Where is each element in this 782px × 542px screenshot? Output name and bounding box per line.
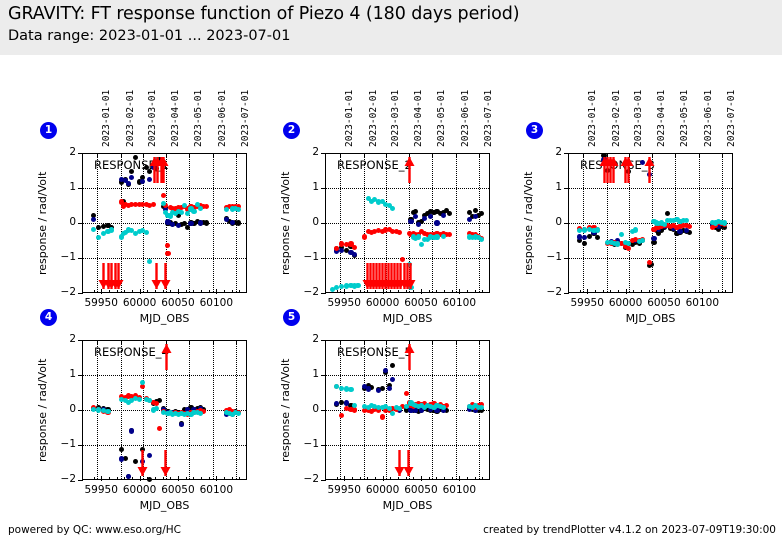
x-minor-tick bbox=[367, 290, 368, 293]
y-tick-label: −1 bbox=[293, 438, 319, 450]
data-point bbox=[441, 213, 446, 218]
date-tick-label: 2023-06-01 bbox=[460, 90, 471, 147]
y-tick-mark bbox=[321, 340, 326, 341]
data-point bbox=[165, 243, 170, 248]
overflow-arrow-down bbox=[113, 263, 124, 289]
x-minor-tick bbox=[178, 290, 179, 293]
gridline-h bbox=[83, 445, 246, 446]
gridline-h bbox=[569, 188, 732, 189]
overflow-arrow-up bbox=[644, 157, 655, 183]
x-minor-tick bbox=[239, 477, 240, 480]
y-tick-mark bbox=[564, 188, 569, 189]
data-point bbox=[154, 406, 159, 411]
x-axis-title: MJD_OBS bbox=[348, 312, 468, 325]
data-point bbox=[344, 400, 349, 405]
date-tick-mark bbox=[213, 153, 214, 157]
x-minor-tick bbox=[421, 290, 422, 293]
gridline-h bbox=[326, 223, 489, 224]
x-minor-tick bbox=[109, 290, 110, 293]
overflow-arrow-down bbox=[160, 263, 171, 289]
x-minor-tick bbox=[383, 290, 384, 293]
y-tick-label: 1 bbox=[293, 368, 319, 380]
data-point bbox=[479, 237, 484, 242]
x-minor-tick bbox=[398, 477, 399, 480]
data-point bbox=[188, 221, 193, 226]
y-tick-label: −2 bbox=[293, 473, 319, 485]
y-tick-label: −2 bbox=[50, 473, 76, 485]
date-tick-mark bbox=[340, 340, 341, 344]
x-minor-tick bbox=[421, 477, 422, 480]
x-minor-tick bbox=[413, 477, 414, 480]
date-tick-mark bbox=[121, 153, 122, 157]
x-minor-tick bbox=[337, 290, 338, 293]
data-point bbox=[230, 220, 235, 225]
y-axis-title: response / rad/Volt bbox=[522, 172, 535, 275]
data-point bbox=[198, 220, 203, 225]
y-tick-mark bbox=[321, 188, 326, 189]
x-minor-tick bbox=[186, 477, 187, 480]
overflow-arrow-up bbox=[158, 157, 169, 183]
x-minor-tick bbox=[444, 290, 445, 293]
data-point bbox=[387, 386, 392, 391]
data-point bbox=[647, 260, 652, 265]
x-minor-tick bbox=[360, 477, 361, 480]
y-tick-label: 1 bbox=[50, 368, 76, 380]
x-minor-tick bbox=[209, 290, 210, 293]
x-minor-tick bbox=[101, 477, 102, 480]
data-point bbox=[119, 447, 124, 452]
x-minor-tick bbox=[344, 290, 345, 293]
x-minor-tick bbox=[626, 290, 627, 293]
y-tick-mark bbox=[78, 445, 83, 446]
gridline-h bbox=[83, 188, 246, 189]
data-point bbox=[640, 238, 645, 243]
gridline-h bbox=[326, 445, 489, 446]
date-tick-label: 2023-05-01 bbox=[193, 90, 204, 147]
page-title: GRAVITY: FT response function of Piezo 4… bbox=[8, 4, 519, 24]
date-tick-label: 2023-07-01 bbox=[483, 90, 494, 147]
date-tick-mark bbox=[479, 340, 480, 344]
x-minor-tick bbox=[352, 290, 353, 293]
data-point bbox=[352, 245, 357, 250]
data-point bbox=[626, 241, 631, 246]
data-point bbox=[352, 407, 357, 412]
data-point bbox=[434, 234, 439, 239]
x-minor-tick bbox=[216, 290, 217, 293]
x-minor-tick bbox=[117, 477, 118, 480]
x-axis-title: MJD_OBS bbox=[105, 499, 225, 512]
overflow-arrow-down bbox=[403, 450, 414, 476]
data-point bbox=[119, 456, 124, 461]
x-minor-tick bbox=[178, 477, 179, 480]
x-tick-label: 60100 bbox=[192, 297, 240, 309]
x-minor-tick bbox=[459, 477, 460, 480]
x-minor-tick bbox=[618, 290, 619, 293]
x-tick-label: 60100 bbox=[192, 484, 240, 496]
x-minor-tick bbox=[232, 477, 233, 480]
date-tick-mark bbox=[143, 340, 144, 344]
data-point bbox=[348, 387, 353, 392]
overflow-arrow-up bbox=[161, 344, 172, 370]
x-minor-tick bbox=[170, 477, 171, 480]
y-tick-label: 2 bbox=[293, 146, 319, 158]
x-minor-tick bbox=[201, 477, 202, 480]
x-minor-tick bbox=[147, 290, 148, 293]
x-minor-tick bbox=[406, 290, 407, 293]
data-point bbox=[651, 236, 656, 241]
x-minor-tick bbox=[352, 477, 353, 480]
data-point bbox=[151, 202, 156, 207]
date-tick-mark bbox=[213, 340, 214, 344]
y-tick-label: −2 bbox=[50, 286, 76, 298]
x-minor-tick bbox=[467, 290, 468, 293]
x-minor-tick bbox=[718, 290, 719, 293]
overflow-arrow-up bbox=[608, 157, 619, 183]
y-tick-mark bbox=[78, 293, 83, 294]
x-minor-tick bbox=[429, 477, 430, 480]
x-minor-tick bbox=[163, 290, 164, 293]
x-minor-tick bbox=[475, 477, 476, 480]
x-minor-tick bbox=[702, 290, 703, 293]
x-minor-tick bbox=[375, 290, 376, 293]
x-minor-tick bbox=[367, 477, 368, 480]
x-minor-tick bbox=[475, 290, 476, 293]
y-tick-mark bbox=[321, 258, 326, 259]
y-tick-mark bbox=[564, 293, 569, 294]
date-tick-mark bbox=[189, 153, 190, 157]
data-point bbox=[390, 377, 395, 382]
x-minor-tick bbox=[132, 290, 133, 293]
x-minor-tick bbox=[649, 290, 650, 293]
date-tick-mark bbox=[583, 153, 584, 157]
panel-badge-1: 1 bbox=[40, 122, 57, 139]
data-point bbox=[390, 206, 395, 211]
y-tick-mark bbox=[564, 223, 569, 224]
x-minor-tick bbox=[482, 290, 483, 293]
x-minor-tick bbox=[603, 290, 604, 293]
y-tick-label: 0 bbox=[293, 216, 319, 228]
data-point bbox=[176, 223, 181, 228]
panel-badge-3: 3 bbox=[526, 122, 543, 139]
y-tick-label: −2 bbox=[536, 286, 562, 298]
data-point bbox=[441, 234, 446, 239]
overflow-arrow-up bbox=[404, 157, 415, 183]
x-minor-tick bbox=[193, 477, 194, 480]
series-label-5: RESPONSE_5 bbox=[337, 345, 412, 359]
x-minor-tick bbox=[186, 290, 187, 293]
x-minor-tick bbox=[695, 290, 696, 293]
overflow-arrow-down bbox=[405, 263, 416, 289]
data-point bbox=[362, 234, 367, 239]
data-point bbox=[416, 234, 421, 239]
y-tick-mark bbox=[321, 223, 326, 224]
date-tick-mark bbox=[675, 153, 676, 157]
data-point bbox=[165, 251, 170, 256]
x-tick-label: 60100 bbox=[435, 484, 483, 496]
date-tick-label: 2023-05-01 bbox=[436, 90, 447, 147]
x-minor-tick bbox=[444, 477, 445, 480]
date-tick-label: 2023-05-01 bbox=[679, 90, 690, 147]
x-minor-tick bbox=[580, 290, 581, 293]
date-tick-mark bbox=[364, 153, 365, 157]
x-minor-tick bbox=[641, 290, 642, 293]
date-tick-mark bbox=[386, 340, 387, 344]
x-axis-title: MJD_OBS bbox=[591, 312, 711, 325]
x-minor-tick bbox=[436, 290, 437, 293]
x-minor-tick bbox=[117, 290, 118, 293]
data-point bbox=[366, 386, 371, 391]
x-minor-tick bbox=[390, 477, 391, 480]
x-minor-tick bbox=[224, 477, 225, 480]
x-minor-tick bbox=[452, 290, 453, 293]
date-tick-mark bbox=[189, 340, 190, 344]
x-minor-tick bbox=[413, 290, 414, 293]
y-tick-label: −1 bbox=[536, 251, 562, 263]
date-tick-mark bbox=[143, 153, 144, 157]
x-minor-tick bbox=[482, 477, 483, 480]
x-minor-tick bbox=[239, 290, 240, 293]
x-minor-tick bbox=[124, 477, 125, 480]
y-tick-mark bbox=[78, 340, 83, 341]
y-tick-label: −2 bbox=[293, 286, 319, 298]
footer-left-text: powered by QC: www.eso.org/HC bbox=[8, 524, 181, 536]
y-tick-label: −1 bbox=[50, 438, 76, 450]
date-tick-label: 2023-03-01 bbox=[390, 90, 401, 147]
date-tick-mark bbox=[97, 153, 98, 157]
y-tick-mark bbox=[78, 223, 83, 224]
y-tick-mark bbox=[321, 293, 326, 294]
y-tick-label: 1 bbox=[50, 181, 76, 193]
y-tick-label: 2 bbox=[50, 146, 76, 158]
data-point bbox=[224, 217, 229, 222]
x-minor-tick bbox=[679, 290, 680, 293]
data-point bbox=[626, 246, 631, 251]
date-tick-mark bbox=[386, 153, 387, 157]
y-axis-title: response / rad/Volt bbox=[36, 359, 49, 462]
x-minor-tick bbox=[633, 290, 634, 293]
y-tick-mark bbox=[78, 188, 83, 189]
date-tick-mark bbox=[479, 153, 480, 157]
data-point bbox=[198, 206, 203, 211]
data-point bbox=[105, 409, 110, 414]
x-minor-tick bbox=[337, 477, 338, 480]
x-minor-tick bbox=[383, 477, 384, 480]
date-tick-label: 2023-02-01 bbox=[611, 90, 622, 147]
date-tick-mark bbox=[456, 153, 457, 157]
x-minor-tick bbox=[94, 477, 95, 480]
y-tick-mark bbox=[564, 153, 569, 154]
y-tick-mark bbox=[321, 375, 326, 376]
y-tick-mark bbox=[78, 480, 83, 481]
y-axis-title: response / rad/Volt bbox=[279, 172, 292, 275]
x-minor-tick bbox=[170, 290, 171, 293]
date-tick-label: 2023-01-01 bbox=[101, 90, 112, 147]
x-minor-tick bbox=[124, 290, 125, 293]
date-tick-label: 2023-07-01 bbox=[240, 90, 251, 147]
date-tick-label: 2023-07-01 bbox=[726, 90, 737, 147]
y-tick-label: 1 bbox=[536, 181, 562, 193]
data-point bbox=[390, 363, 395, 368]
y-tick-mark bbox=[564, 258, 569, 259]
date-tick-mark bbox=[722, 153, 723, 157]
panel-badge-5: 5 bbox=[283, 309, 300, 326]
gridline-h bbox=[326, 375, 489, 376]
x-minor-tick bbox=[224, 290, 225, 293]
page-subtitle: Data range: 2023-01-01 ... 2023-07-01 bbox=[8, 28, 290, 44]
x-minor-tick bbox=[216, 477, 217, 480]
data-point bbox=[467, 217, 472, 222]
y-tick-mark bbox=[321, 480, 326, 481]
x-minor-tick bbox=[94, 290, 95, 293]
date-tick-label: 2023-01-01 bbox=[344, 90, 355, 147]
data-point bbox=[236, 220, 241, 225]
y-tick-mark bbox=[321, 153, 326, 154]
x-minor-tick bbox=[406, 477, 407, 480]
data-point bbox=[355, 283, 360, 288]
y-tick-label: 0 bbox=[293, 403, 319, 415]
series-label-2: RESPONSE_2 bbox=[337, 158, 412, 172]
gridline-h bbox=[83, 258, 246, 259]
x-minor-tick bbox=[193, 290, 194, 293]
data-point bbox=[157, 426, 162, 431]
data-point bbox=[687, 224, 692, 229]
y-tick-label: 2 bbox=[50, 333, 76, 345]
x-tick-label: 60100 bbox=[435, 297, 483, 309]
y-tick-label: −1 bbox=[293, 251, 319, 263]
overflow-arrow-down bbox=[160, 450, 171, 476]
x-minor-tick bbox=[398, 290, 399, 293]
data-point bbox=[198, 411, 203, 416]
y-tick-label: 1 bbox=[293, 181, 319, 193]
y-tick-mark bbox=[78, 258, 83, 259]
x-minor-tick bbox=[672, 290, 673, 293]
panel-badge-2: 2 bbox=[283, 122, 300, 139]
y-axis-title: response / rad/Volt bbox=[36, 172, 49, 275]
data-point bbox=[633, 227, 638, 232]
x-minor-tick bbox=[375, 477, 376, 480]
x-minor-tick bbox=[163, 477, 164, 480]
data-point bbox=[397, 406, 402, 411]
date-tick-label: 2023-04-01 bbox=[656, 90, 667, 147]
x-minor-tick bbox=[232, 290, 233, 293]
y-tick-label: 2 bbox=[536, 146, 562, 158]
gridline-h bbox=[326, 258, 489, 259]
y-tick-label: 2 bbox=[293, 333, 319, 345]
x-minor-tick bbox=[656, 290, 657, 293]
x-minor-tick bbox=[390, 290, 391, 293]
data-point bbox=[191, 209, 196, 214]
x-minor-tick bbox=[452, 477, 453, 480]
x-minor-tick bbox=[209, 477, 210, 480]
date-tick-mark bbox=[121, 340, 122, 344]
y-tick-mark bbox=[321, 445, 326, 446]
x-minor-tick bbox=[725, 290, 726, 293]
overflow-arrow-up bbox=[623, 157, 634, 183]
data-point bbox=[334, 246, 339, 251]
date-tick-mark bbox=[699, 153, 700, 157]
date-tick-mark bbox=[456, 340, 457, 344]
gridline-h bbox=[83, 375, 246, 376]
date-tick-label: 2023-01-01 bbox=[587, 90, 598, 147]
data-point bbox=[380, 414, 385, 419]
x-minor-tick bbox=[436, 477, 437, 480]
gridline-h bbox=[569, 223, 732, 224]
data-point bbox=[144, 230, 149, 235]
x-minor-tick bbox=[664, 290, 665, 293]
x-minor-tick bbox=[687, 290, 688, 293]
date-tick-mark bbox=[236, 153, 237, 157]
x-tick-label: 60100 bbox=[678, 297, 726, 309]
footer-right-text: created by trendPlotter v4.1.2 on 2023-0… bbox=[483, 524, 776, 536]
x-minor-tick bbox=[587, 290, 588, 293]
x-minor-tick bbox=[610, 290, 611, 293]
y-tick-mark bbox=[78, 153, 83, 154]
data-point bbox=[91, 227, 96, 232]
x-minor-tick bbox=[101, 290, 102, 293]
y-tick-label: 0 bbox=[50, 403, 76, 415]
y-axis-title: response / rad/Volt bbox=[279, 359, 292, 462]
data-point bbox=[447, 211, 452, 216]
y-tick-label: 0 bbox=[536, 216, 562, 228]
data-point bbox=[595, 227, 600, 232]
x-minor-tick bbox=[344, 477, 345, 480]
y-tick-label: 0 bbox=[50, 216, 76, 228]
x-axis-title: MJD_OBS bbox=[105, 312, 225, 325]
overflow-arrow-down bbox=[137, 450, 148, 476]
date-tick-mark bbox=[340, 153, 341, 157]
date-tick-label: 2023-02-01 bbox=[125, 90, 136, 147]
x-minor-tick bbox=[459, 290, 460, 293]
header-band: GRAVITY: FT response function of Piezo 4… bbox=[0, 0, 782, 55]
x-minor-tick bbox=[595, 290, 596, 293]
x-minor-tick bbox=[109, 477, 110, 480]
y-tick-mark bbox=[321, 410, 326, 411]
date-tick-label: 2023-06-01 bbox=[217, 90, 228, 147]
date-tick-mark bbox=[432, 153, 433, 157]
x-axis-title: MJD_OBS bbox=[348, 499, 468, 512]
date-tick-mark bbox=[236, 340, 237, 344]
x-minor-tick bbox=[155, 477, 156, 480]
date-tick-label: 2023-03-01 bbox=[633, 90, 644, 147]
x-minor-tick bbox=[467, 477, 468, 480]
x-minor-tick bbox=[140, 290, 141, 293]
panel-badge-4: 4 bbox=[40, 309, 57, 326]
x-minor-tick bbox=[140, 477, 141, 480]
data-point bbox=[147, 477, 152, 482]
data-point bbox=[204, 220, 209, 225]
x-minor-tick bbox=[429, 290, 430, 293]
date-tick-label: 2023-04-01 bbox=[170, 90, 181, 147]
date-tick-label: 2023-02-01 bbox=[368, 90, 379, 147]
series-label-4: RESPONSE_4 bbox=[94, 345, 169, 359]
date-tick-mark bbox=[364, 340, 365, 344]
x-minor-tick bbox=[155, 290, 156, 293]
gridline-h bbox=[569, 258, 732, 259]
data-point bbox=[722, 220, 727, 225]
date-tick-mark bbox=[432, 340, 433, 344]
x-minor-tick bbox=[132, 477, 133, 480]
data-point bbox=[479, 405, 484, 410]
y-tick-mark bbox=[78, 375, 83, 376]
data-point bbox=[352, 252, 357, 257]
data-point bbox=[595, 235, 600, 240]
date-tick-label: 2023-03-01 bbox=[147, 90, 158, 147]
x-minor-tick bbox=[360, 290, 361, 293]
data-point bbox=[434, 220, 439, 225]
data-point bbox=[109, 227, 114, 232]
x-minor-tick bbox=[710, 290, 711, 293]
gridline-h bbox=[326, 188, 489, 189]
